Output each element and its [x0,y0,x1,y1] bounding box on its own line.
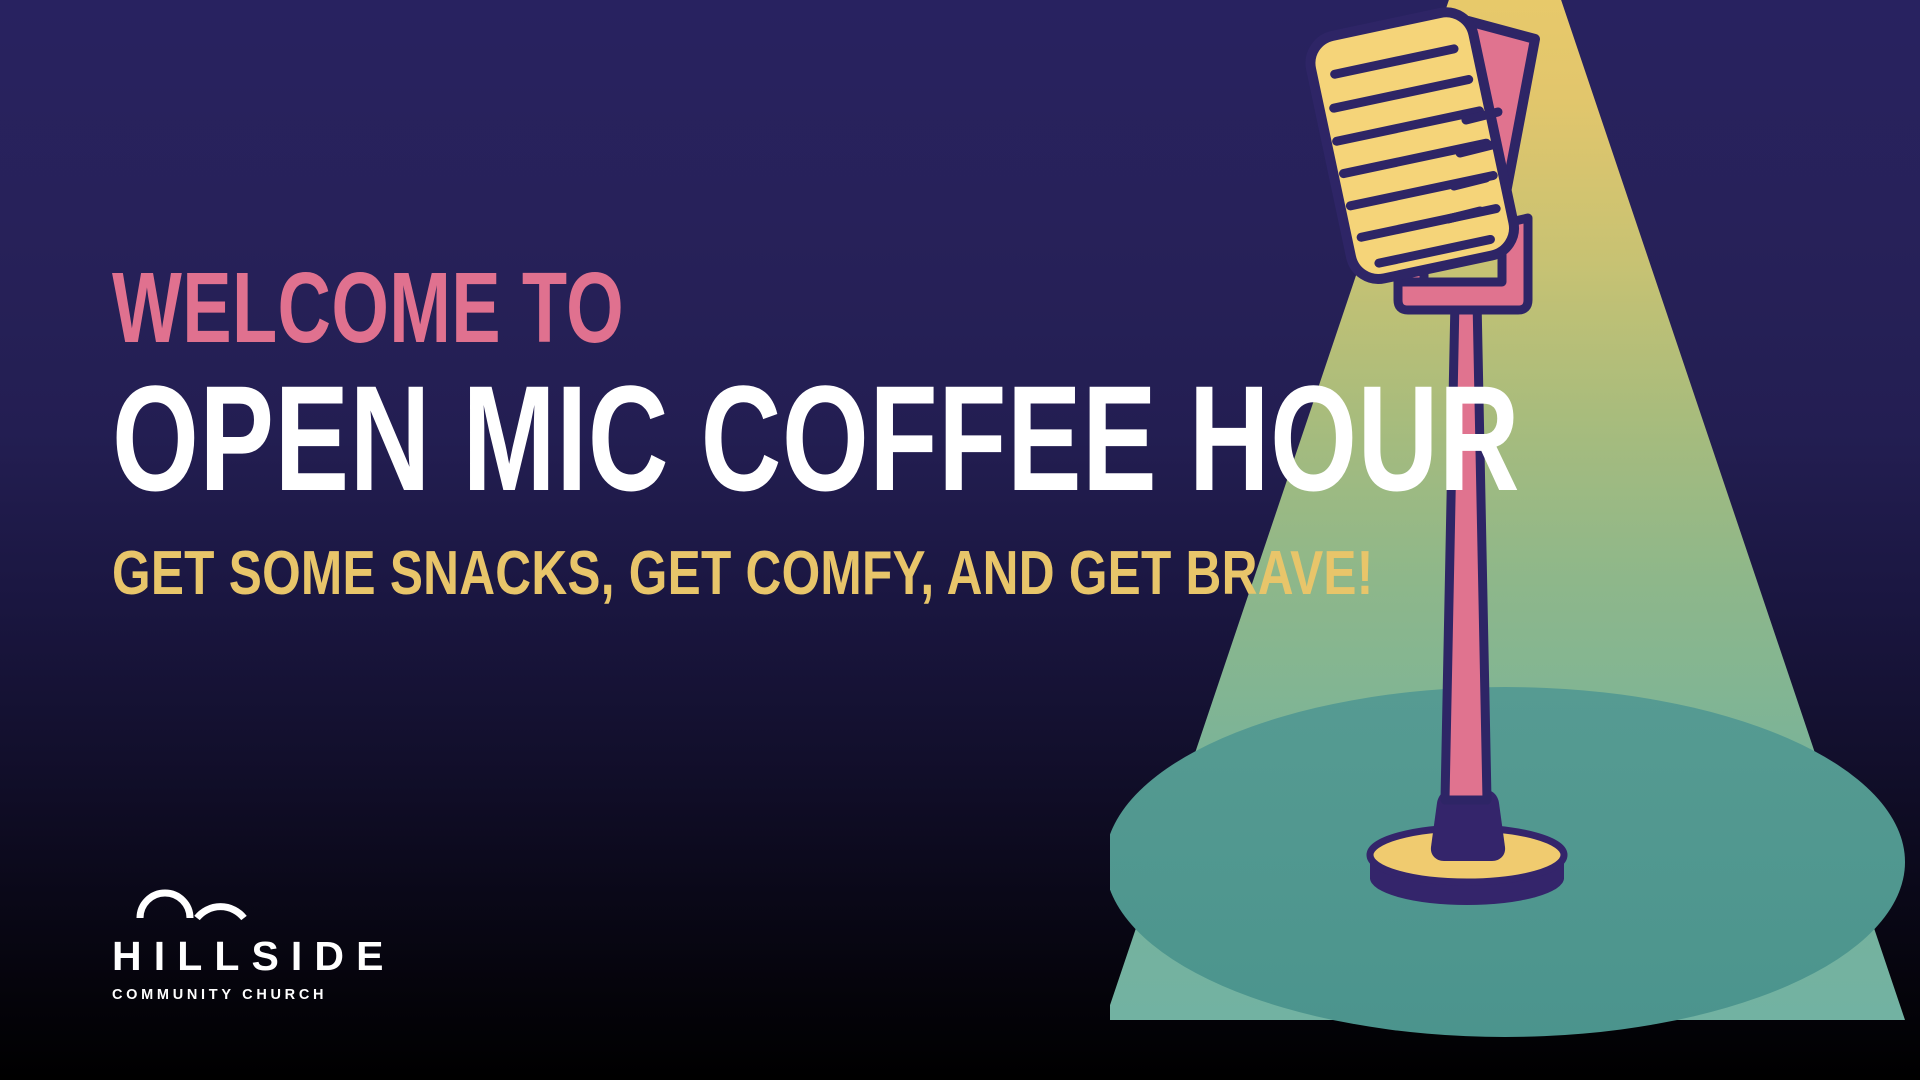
subtitle-text: GET SOME SNACKS, GET COMFY, AND GET BRAV… [112,545,976,603]
slide-canvas: WELCOME TO OPEN MIC COFFEE HOUR GET SOME… [0,0,1920,1080]
headline-block: WELCOME TO OPEN MIC COFFEE HOUR GET SOME… [112,262,1192,602]
hillside-logo: HILLSIDE COMMUNITY CHURCH [112,866,342,1003]
page-title: OPEN MIC COFFEE HOUR [112,369,917,509]
logo-tagline: COMMUNITY CHURCH [112,988,342,1003]
hills-arcs-icon [136,866,248,922]
eyebrow-text: WELCOME TO [112,262,911,355]
logo-wordmark: HILLSIDE [112,936,342,977]
